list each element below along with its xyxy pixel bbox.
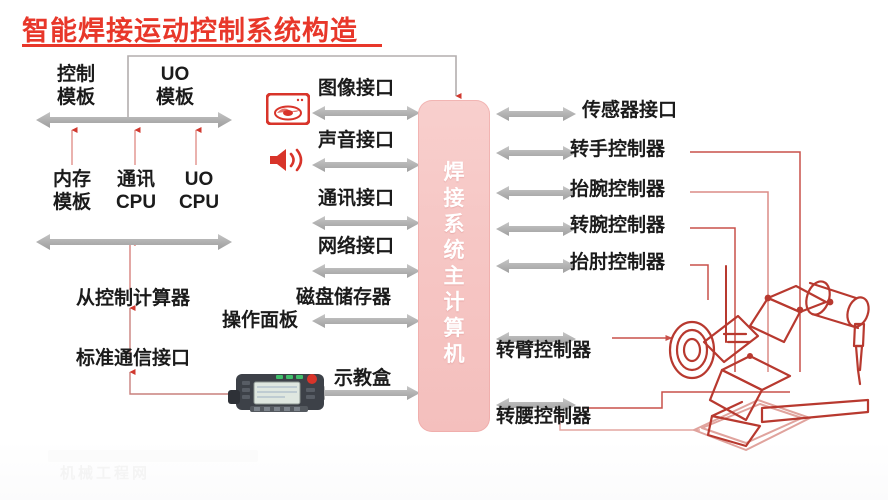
label-waist-rotate-controller: 转腰控制器 (496, 406, 626, 428)
label-wrist-lift-controller: 抬腕控制器 (570, 179, 690, 201)
arrow-comm-interface (312, 214, 420, 232)
label-comm-interface: 通讯接口 (318, 188, 428, 210)
arrow-wrist-turn-controller (496, 220, 576, 238)
label-audio-interface: 声音接口 (318, 130, 428, 152)
main-computer-label: 焊 接 系 统 主 计 算 机 (418, 160, 490, 368)
arrow-image-interface (312, 104, 420, 122)
label-arm-rotate-controller: 转臂控制器 (496, 340, 626, 362)
label-slave-control-computer: 从控制计算器 (38, 288, 228, 310)
label-wrist-rotate-controller: 转手控制器 (570, 139, 690, 161)
page-title: 智能焊接运动控制系统构造 (22, 9, 358, 48)
bus-bar-lower (36, 232, 232, 252)
arrow-audio-interface (312, 156, 420, 174)
title-underline (22, 44, 382, 47)
label-memory-module: 内存 模板 (40, 168, 104, 214)
diagram-canvas: 智能焊接运动控制系统构造 (0, 0, 888, 500)
label-uo-cpu: UO CPU (168, 168, 230, 214)
arrow-wrist-rotate-controller (496, 144, 576, 162)
arrow-elbow-lift-controller (496, 257, 576, 275)
label-operation-panel: 操作面板 (222, 310, 312, 332)
label-wrist-turn-controller: 转腕控制器 (570, 215, 690, 237)
label-uo-module: UO 模板 (140, 63, 210, 109)
watermark-text: 机械工程网 (60, 462, 150, 483)
label-network-interface: 网络接口 (318, 236, 428, 258)
label-image-interface: 图像接口 (318, 78, 428, 100)
label-sensor-interface: 传感器接口 (582, 100, 702, 122)
arrow-disk-storage (312, 312, 420, 330)
monitor-image-icon (266, 93, 310, 125)
teach-pendant-icon (228, 368, 332, 418)
main-computer-column: 焊 接 系 统 主 计 算 机 (418, 100, 490, 432)
label-standard-comm-interface: 标准通信接口 (38, 348, 228, 370)
speaker-icon (268, 145, 308, 175)
robot-arm-illustration (650, 250, 888, 455)
label-disk-storage: 磁盘储存器 (296, 287, 426, 309)
arrow-wrist-lift-controller (496, 184, 576, 202)
arrow-sensor-interface (496, 105, 576, 123)
label-control-module: 控制 模板 (45, 63, 107, 109)
arrow-network-interface (312, 262, 420, 280)
bus-bar-upper (36, 110, 232, 130)
label-comm-cpu: 通讯 CPU (104, 168, 168, 214)
watermark-bar (48, 450, 258, 462)
